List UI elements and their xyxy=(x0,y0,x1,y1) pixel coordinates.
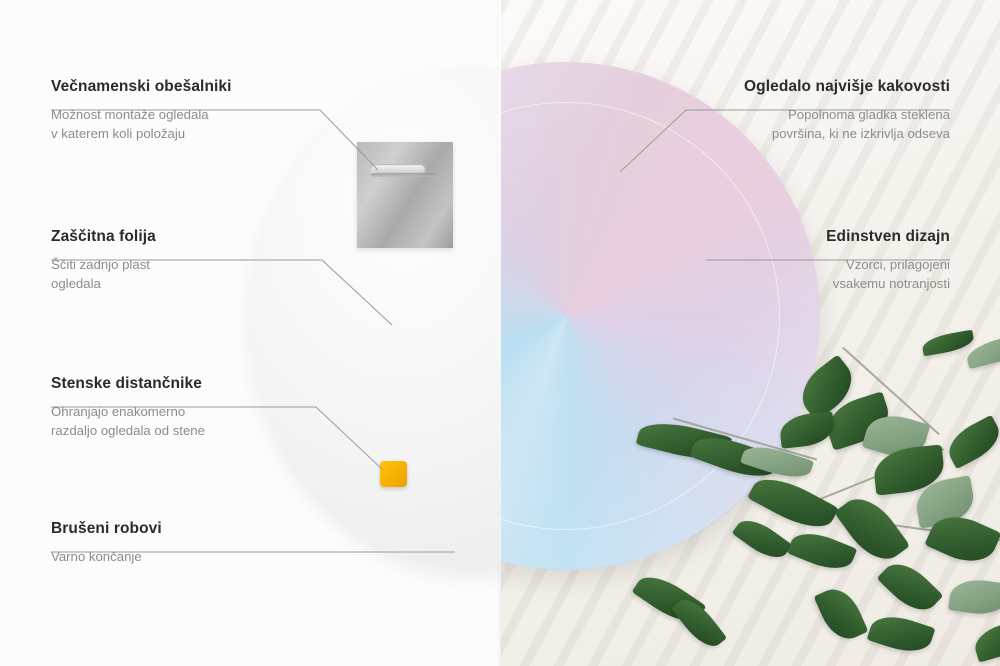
hanger-plate xyxy=(357,142,453,248)
feature-description: Možnost montaže ogledala v katerem koli … xyxy=(51,105,232,143)
feature-block-bruseni-robovi: Brušeni robovi Varno končanje xyxy=(51,520,162,566)
foliage-decoration xyxy=(630,330,1000,666)
hanger-slot-icon xyxy=(371,164,425,173)
feature-block-ogledalo-najvisje-kakovosti: Ogledalo najvišje kakovosti Popolnoma gl… xyxy=(744,78,950,143)
feature-description: Popolnoma gladka steklena površina, ki n… xyxy=(744,105,950,143)
infographic-canvas: Večnamenski obešalniki Možnost montaže o… xyxy=(0,0,1000,666)
feature-title: Večnamenski obešalniki xyxy=(51,78,232,96)
wall-spacer xyxy=(380,461,407,487)
hanger-slot-shadow xyxy=(371,173,437,177)
feature-description: Varno končanje xyxy=(51,547,162,566)
feature-title: Brušeni robovi xyxy=(51,520,162,538)
feature-title: Ogledalo najvišje kakovosti xyxy=(744,78,950,96)
feature-title: Zaščitna folija xyxy=(51,228,156,246)
feature-block-zascitna-folija: Zaščitna folija Ščiti zadnjo plast ogled… xyxy=(51,228,156,293)
feature-description: Ohranjajo enakomerno razdaljo ogledala o… xyxy=(51,402,205,440)
feature-description: Vzorci, prilagojeni vsakemu notranjosti xyxy=(826,255,950,293)
feature-description: Ščiti zadnjo plast ogledala xyxy=(51,255,156,293)
feature-block-vecnamenski-obesalniki: Večnamenski obešalniki Možnost montaže o… xyxy=(51,78,232,143)
feature-block-edinstven-dizajn: Edinstven dizajn Vzorci, prilagojeni vsa… xyxy=(826,228,950,293)
feature-block-stenske-distancnike: Stenske distančnike Ohranjajo enakomerno… xyxy=(51,375,205,440)
feature-title: Edinstven dizajn xyxy=(826,228,950,246)
feature-title: Stenske distančnike xyxy=(51,375,205,393)
